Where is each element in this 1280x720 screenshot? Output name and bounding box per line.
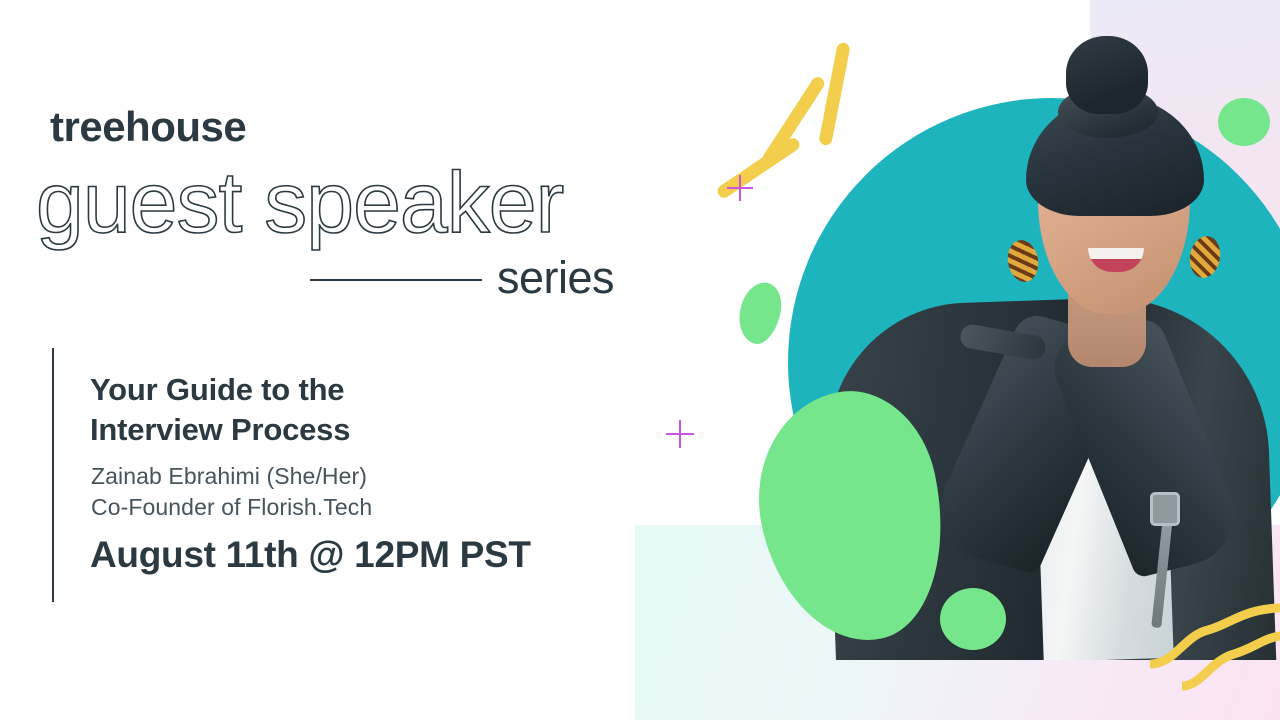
session-title: Your Guide to the Interview Process [90, 370, 350, 449]
plus-mark-icon [666, 420, 694, 448]
green-blob-small [733, 278, 787, 348]
session-block-vertical-rule [52, 348, 54, 602]
series-divider-rule [310, 279, 482, 281]
plus-mark-icon [727, 175, 753, 201]
portrait-hair-bun [1066, 36, 1148, 114]
headline-guest-speaker: guest speaker [36, 158, 563, 248]
portrait-earring-right [1187, 234, 1224, 281]
green-dot-bottom [940, 588, 1006, 650]
speaker-role: Co-Founder of Florish.Tech [91, 492, 372, 523]
yellow-squiggle-icon [1182, 630, 1280, 700]
portrait-earring-left [1005, 238, 1042, 285]
treehouse-wordmark: treehouse [50, 106, 246, 148]
speaker-name: Zainab Ebrahimi (She/Her) [91, 461, 367, 492]
portrait-teeth [1088, 248, 1144, 259]
promo-graphic: treehouse guest speaker series Your Guid… [0, 0, 1280, 720]
portrait-zipper-pull [1150, 492, 1180, 526]
session-datetime: August 11th @ 12PM PST [90, 535, 531, 576]
headline-series: series [497, 255, 614, 300]
